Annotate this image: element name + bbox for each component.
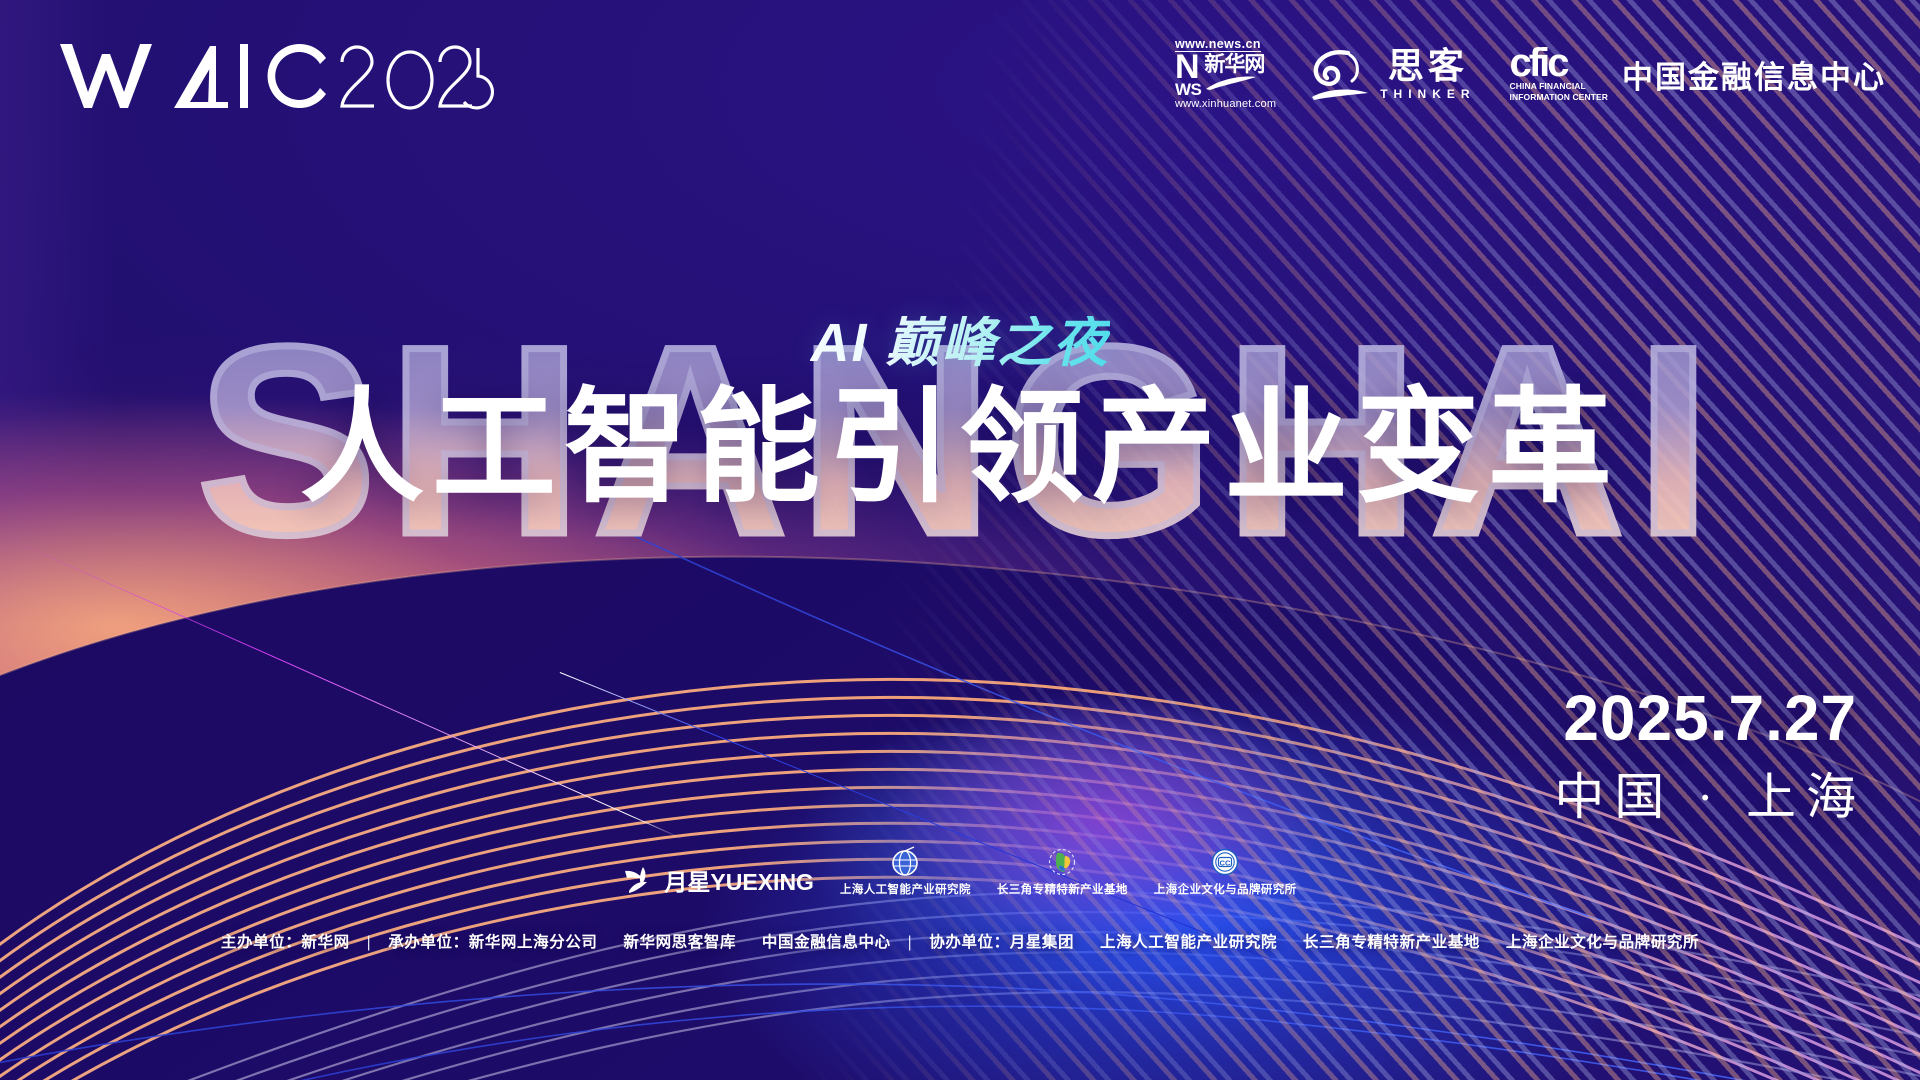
title-block: AI 巅峰之夜 人工智能引领产业变革	[0, 316, 1920, 513]
thinker-brush-swirl-icon	[1310, 47, 1370, 101]
background-diagonal-stripes-alt	[15, 0, 1920, 1080]
logo-cfic[interactable]: cfic CHINA FINANCIAL INFORMATION CENTER …	[1510, 36, 1886, 112]
thinker-cn-name: 思客	[1388, 48, 1468, 84]
logo-thinker[interactable]: 思客 THINKER	[1310, 36, 1475, 112]
sponsor-logo-yangtze-delta-base[interactable]: 长三角专精特新产业基地	[997, 848, 1128, 897]
cc-seal-icon: CC	[1210, 848, 1240, 878]
event-headline: 人工智能引领产业变革	[0, 384, 1920, 513]
footer-separator-1: |	[355, 934, 384, 951]
cfic-letters: cfic	[1510, 45, 1608, 81]
header-partner-logos: www.news.cn N WS 新华网 www.xi	[1175, 36, 1886, 112]
sponsor-logo-row: 月星YUEXING 上海人工智能产业研究院 长三角专精特新产业基地	[0, 848, 1920, 897]
event-date-location: 2025.7.27 中国 · 上海	[1554, 686, 1866, 822]
sponsor-name: 上海人工智能产业研究院	[840, 881, 971, 897]
footer-organizer: 承办单位：新华网上海分公司	[388, 934, 597, 951]
sponsor-name: 月星YUEXING	[664, 863, 814, 897]
xinhua-letter-ws: WS	[1175, 82, 1201, 97]
footer-separator-2: |	[896, 934, 925, 951]
cfic-sub-line2: INFORMATION CENTER	[1510, 93, 1608, 103]
footer-credits: 主办单位：新华网 | 承办单位：新华网上海分公司 新华网思客智库 中国金融信息中…	[0, 930, 1920, 952]
sponsor-logo-shanghai-ai-institute[interactable]: 上海人工智能产业研究院	[840, 848, 971, 897]
poster-header: www.news.cn N WS 新华网 www.xi	[0, 0, 1920, 150]
cfic-cn-name: 中国金融信息中心	[1622, 52, 1886, 97]
poster-canvas: SHANGHAI	[0, 0, 1920, 1080]
event-subtitle: AI 巅峰之夜	[810, 316, 1109, 370]
sponsor-logo-yuexing[interactable]: 月星YUEXING	[623, 863, 814, 897]
footer-coorganizer-4: 上海企业文化与品牌研究所	[1506, 934, 1699, 951]
sponsor-logo-shanghai-culture-brand[interactable]: CC 上海企业文化与品牌研究所	[1154, 848, 1297, 897]
svg-text:CC: CC	[1220, 858, 1231, 867]
event-date: 2025.7.27	[1554, 686, 1866, 750]
sponsor-name: 上海企业文化与品牌研究所	[1154, 881, 1297, 897]
footer-coorganizer-2: 上海人工智能产业研究院	[1100, 934, 1277, 951]
logo-xinhua[interactable]: www.news.cn N WS 新华网 www.xi	[1175, 36, 1276, 112]
xinhua-swoosh-icon	[1204, 75, 1258, 91]
footer-organizer-2: 新华网思客智库	[623, 934, 736, 951]
waic-logo[interactable]	[58, 36, 488, 116]
event-location: 中国 · 上海	[1554, 772, 1866, 822]
sponsor-name: 长三角专精特新产业基地	[997, 881, 1128, 897]
footer-coorganizer: 协办单位：月星集团	[929, 934, 1074, 951]
thinker-en-name: THINKER	[1380, 87, 1475, 101]
xinhua-cn-name: 新华网	[1204, 54, 1264, 75]
ai-globe-icon	[890, 848, 920, 878]
xinhua-url-bottom: www.xinhuanet.com	[1175, 99, 1276, 110]
cfic-sub-line1: CHINA FINANCIAL	[1510, 82, 1608, 92]
footer-host: 主办单位：新华网	[221, 934, 350, 951]
yuexing-bird-icon	[623, 865, 657, 895]
xinhua-letter-n: N	[1175, 54, 1201, 82]
footer-coorganizer-3: 长三角专精特新产业基地	[1303, 934, 1480, 951]
footer-organizer-3: 中国金融信息中心	[762, 934, 891, 951]
delta-map-icon	[1047, 848, 1077, 878]
